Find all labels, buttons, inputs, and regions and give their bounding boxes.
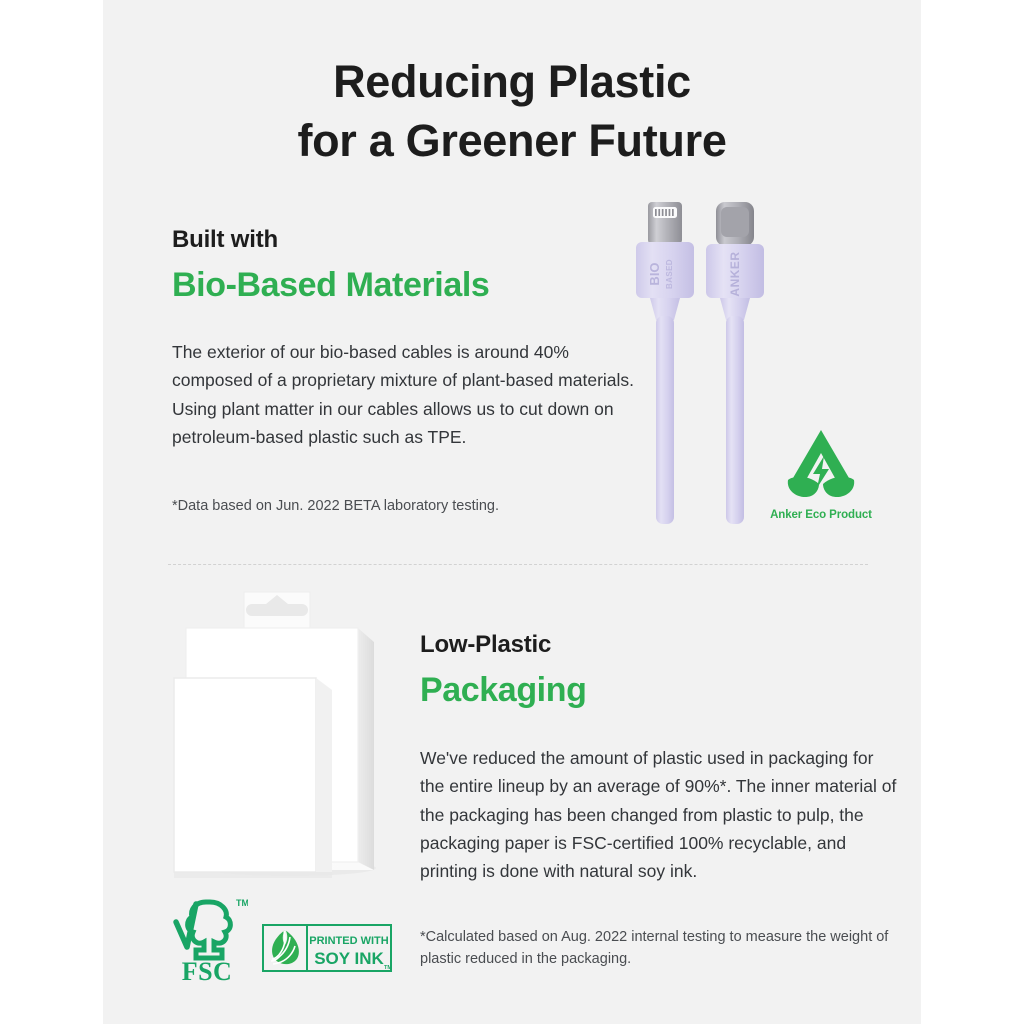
fsc-trademark: TM [236, 898, 248, 908]
anker-eco-product-badge: Anker Eco Product [762, 428, 880, 528]
cable-illustration: BIO BASED ANKER [620, 196, 780, 526]
page-title-line2: for a Greener Future [103, 111, 921, 170]
infographic-page: Reducing Plastic for a Greener Future Bu… [0, 0, 1024, 1024]
section-bio-based-footnote: *Data based on Jun. 2022 BETA laboratory… [172, 496, 642, 518]
cable-bio-label-line1: BIO [647, 262, 662, 285]
lightning-connector: BIO BASED [636, 202, 694, 524]
section-bio-based-body: The exterior of our bio-based cables is … [172, 338, 642, 451]
fsc-label: FSC [182, 957, 233, 984]
section-bio-based-kicker: Built with [172, 225, 632, 255]
eco-badge-label: Anker Eco Product [762, 509, 880, 521]
soy-ink-line2: SOY INK [314, 949, 384, 968]
eco-badge-icon [778, 428, 864, 502]
fsc-logo: TM FSC [166, 892, 248, 984]
soy-ink-logo: PRINTED WITH SOY INK TM [262, 924, 392, 972]
section-packaging-heading: Packaging [420, 668, 880, 712]
cable-anker-label: ANKER [728, 251, 742, 296]
packaging-hang-tab [244, 592, 310, 630]
soy-ink-line1: PRINTED WITH [309, 935, 388, 947]
page-title-line1: Reducing Plastic [333, 56, 691, 107]
section-divider [168, 564, 868, 565]
soy-ink-trademark: TM [384, 965, 392, 971]
section-bio-based-heading: Bio-Based Materials [172, 263, 632, 307]
packaging-illustration [160, 580, 410, 880]
section-packaging-headings: Low-Plastic Packaging [420, 630, 880, 712]
page-title: Reducing Plastic for a Greener Future [103, 52, 921, 171]
usbc-connector: ANKER [706, 202, 764, 524]
soy-droplet-icon [271, 929, 299, 964]
section-packaging-kicker: Low-Plastic [420, 630, 880, 660]
section-packaging-body: We've reduced the amount of plastic used… [420, 744, 898, 886]
section-packaging-footnote: *Calculated based on Aug. 2022 internal … [420, 926, 898, 970]
packaging-inner-card [174, 678, 332, 878]
cable-bio-label-line2: BASED [665, 259, 674, 289]
section-bio-based-headings: Built with Bio-Based Materials [172, 225, 632, 307]
